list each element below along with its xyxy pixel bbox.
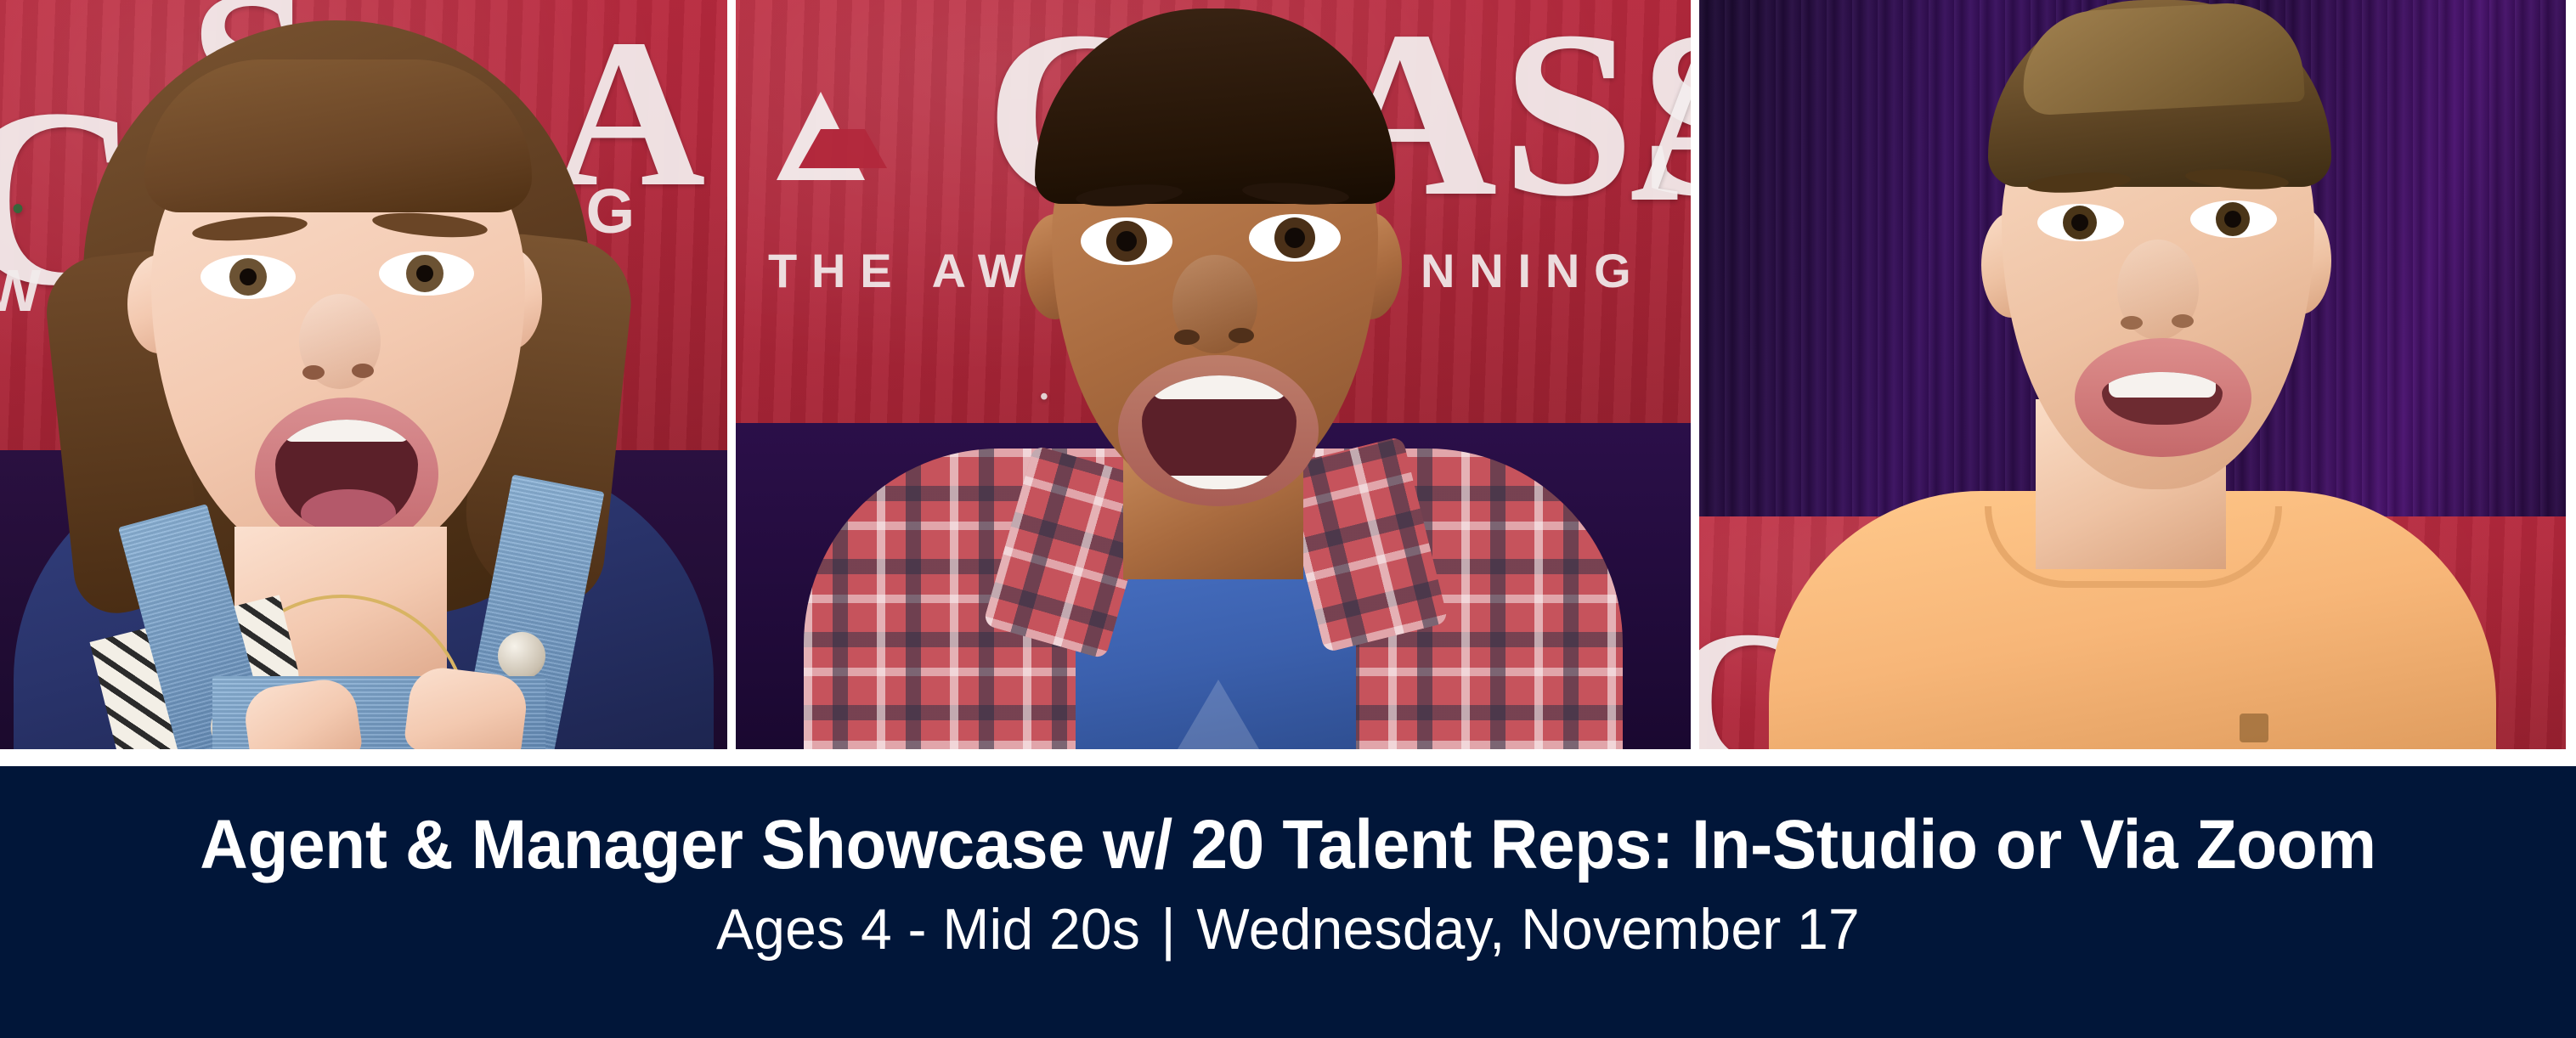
photo-3-scene: C: [1699, 0, 2566, 749]
subject-girl: [0, 0, 727, 749]
photo-strip: C S A NG WA • •: [0, 0, 2576, 766]
nostril-right: [352, 364, 374, 378]
subject-boy: [736, 0, 1691, 749]
pupil-right-2: [1285, 228, 1305, 248]
photo-1-scene: C S A NG WA • •: [0, 0, 727, 749]
right-edge-gap: [2566, 0, 2576, 766]
event-date: Wednesday, November 17: [1196, 897, 1860, 962]
hair-sweep: [2020, 0, 2305, 116]
pupil-left-3: [2071, 214, 2088, 231]
event-info-banner: Agent & Manager Showcase w/ 20 Talent Re…: [0, 766, 2576, 1038]
event-headline: Agent & Manager Showcase w/ 20 Talent Re…: [58, 766, 2518, 880]
eye-left-3: [2037, 204, 2124, 241]
photo-2-scene: CLASS A THE AW NNING •: [736, 0, 1691, 749]
pupil-left-2: [1116, 231, 1137, 251]
photo-girl-singing: C S A NG WA • •: [0, 0, 727, 749]
eye-right-3: [2190, 200, 2277, 238]
nostril-right-3: [2172, 314, 2194, 328]
eye-left-2: [1081, 217, 1172, 265]
teeth-upper-3: [2109, 372, 2216, 398]
photo-teen-singing: C: [1699, 0, 2566, 749]
nostril-right-2: [1229, 328, 1254, 343]
nostril-left-3: [2121, 316, 2143, 330]
pupil-left: [240, 268, 257, 285]
tshirt-pocket-logo: [2240, 714, 2268, 742]
overall-clip-right: [498, 632, 545, 680]
tongue: [301, 489, 396, 532]
event-subline: Ages 4 - Mid 20s | Wednesday, November 1…: [38, 900, 2537, 958]
nostril-left: [302, 365, 325, 380]
subject-teen: [1699, 0, 2566, 749]
event-age-range: Ages 4 - Mid 20s: [716, 897, 1140, 962]
eye-right: [379, 251, 474, 296]
subline-separator: |: [1156, 897, 1181, 962]
pupil-right: [416, 265, 433, 282]
nostril-left-2: [1174, 330, 1200, 345]
teeth-upper: [284, 420, 410, 442]
eye-right-2: [1249, 214, 1341, 262]
hair-2: [1035, 8, 1395, 204]
teeth-upper-2: [1152, 375, 1286, 399]
pupil-right-3: [2224, 211, 2241, 228]
photo-boy-singing: CLASS A THE AW NNING •: [736, 0, 1691, 749]
hair-front: [144, 59, 532, 212]
teeth-lower-2: [1161, 476, 1278, 489]
eye-left: [201, 255, 296, 299]
